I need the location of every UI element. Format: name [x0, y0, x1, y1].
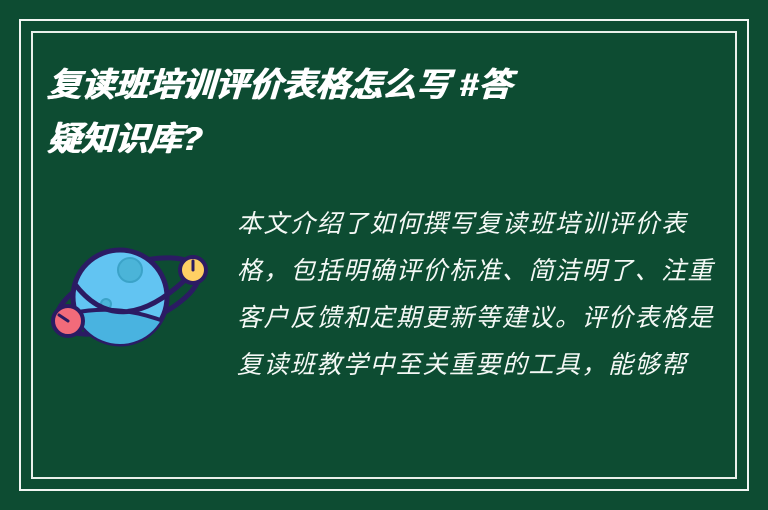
content-area: 本文介绍了如何撰写复读班培训评价表格，包括明确评价标准、简洁明了、注重客户反馈和…: [48, 196, 720, 464]
article-body-paragraph: 本文介绍了如何撰写复读班培训评价表格，包括明确评价标准、简洁明了、注重客户反馈和…: [237, 200, 720, 388]
page-title: 复读班培训评价表格怎么写 #答 疑知识库?: [48, 58, 668, 166]
article-card: 复读班培训评价表格怎么写 #答 疑知识库?: [0, 0, 768, 510]
title-line-1: 复读班培训评价表格怎么写 #答: [47, 58, 670, 112]
planet-with-orbit-icon: [48, 222, 233, 382]
article-body: 本文介绍了如何撰写复读班培训评价表格，包括明确评价标准、简洁明了、注重客户反馈和…: [237, 196, 720, 388]
title-line-2: 疑知识库?: [47, 112, 670, 166]
planet-illustration: [48, 222, 233, 382]
